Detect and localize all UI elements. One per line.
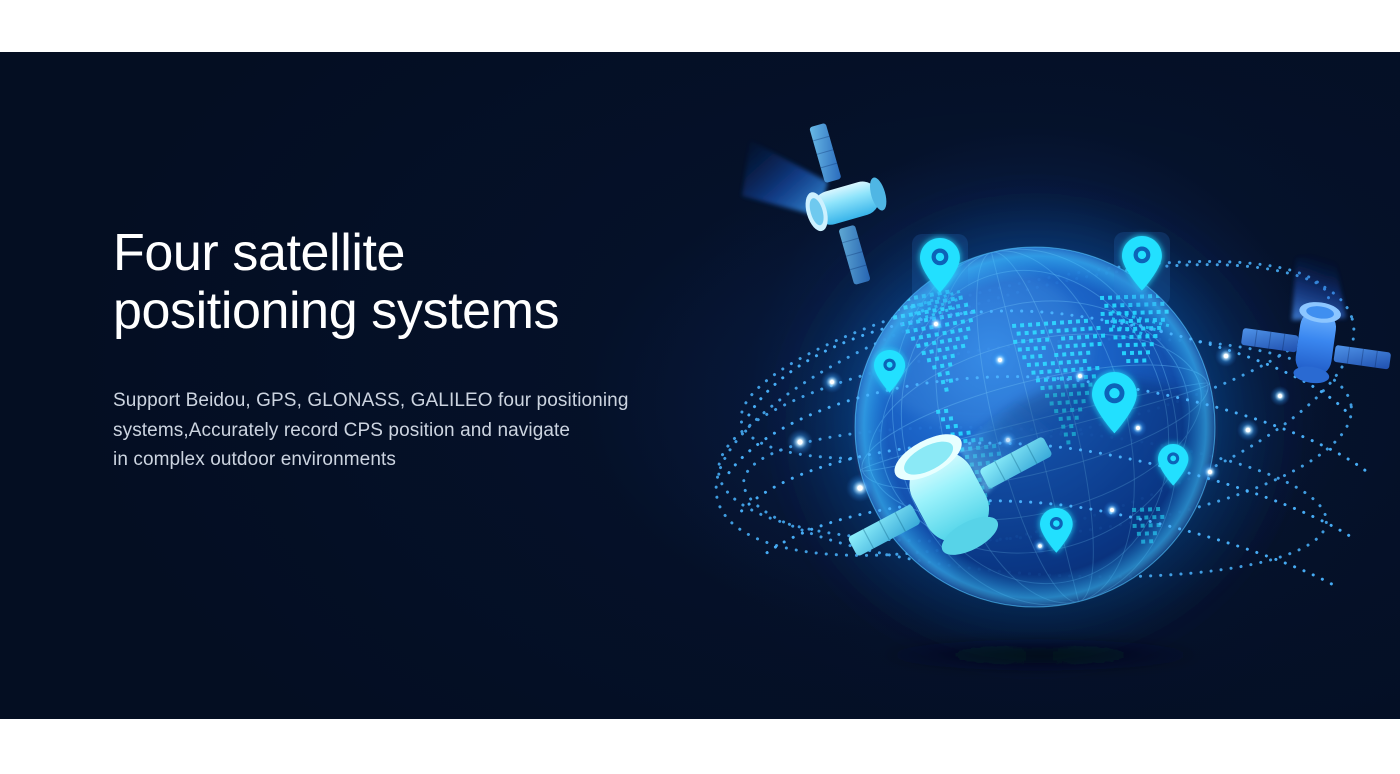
hero-copy: Four satellite positioning systems Suppo… bbox=[113, 224, 773, 475]
letterbox-bottom bbox=[0, 719, 1400, 774]
hero-description: Support Beidou, GPS, GLONASS, GALILEO fo… bbox=[113, 340, 773, 475]
satellite-globe-illustration bbox=[740, 110, 1400, 710]
hero-banner: Four satellite positioning systems Suppo… bbox=[0, 52, 1400, 719]
solar-panel bbox=[809, 123, 841, 183]
globe-shadow bbox=[875, 638, 1205, 672]
letterbox-top bbox=[0, 0, 1400, 52]
page-root: Four satellite positioning systems Suppo… bbox=[0, 0, 1400, 774]
page-title: Four satellite positioning systems bbox=[113, 224, 773, 340]
